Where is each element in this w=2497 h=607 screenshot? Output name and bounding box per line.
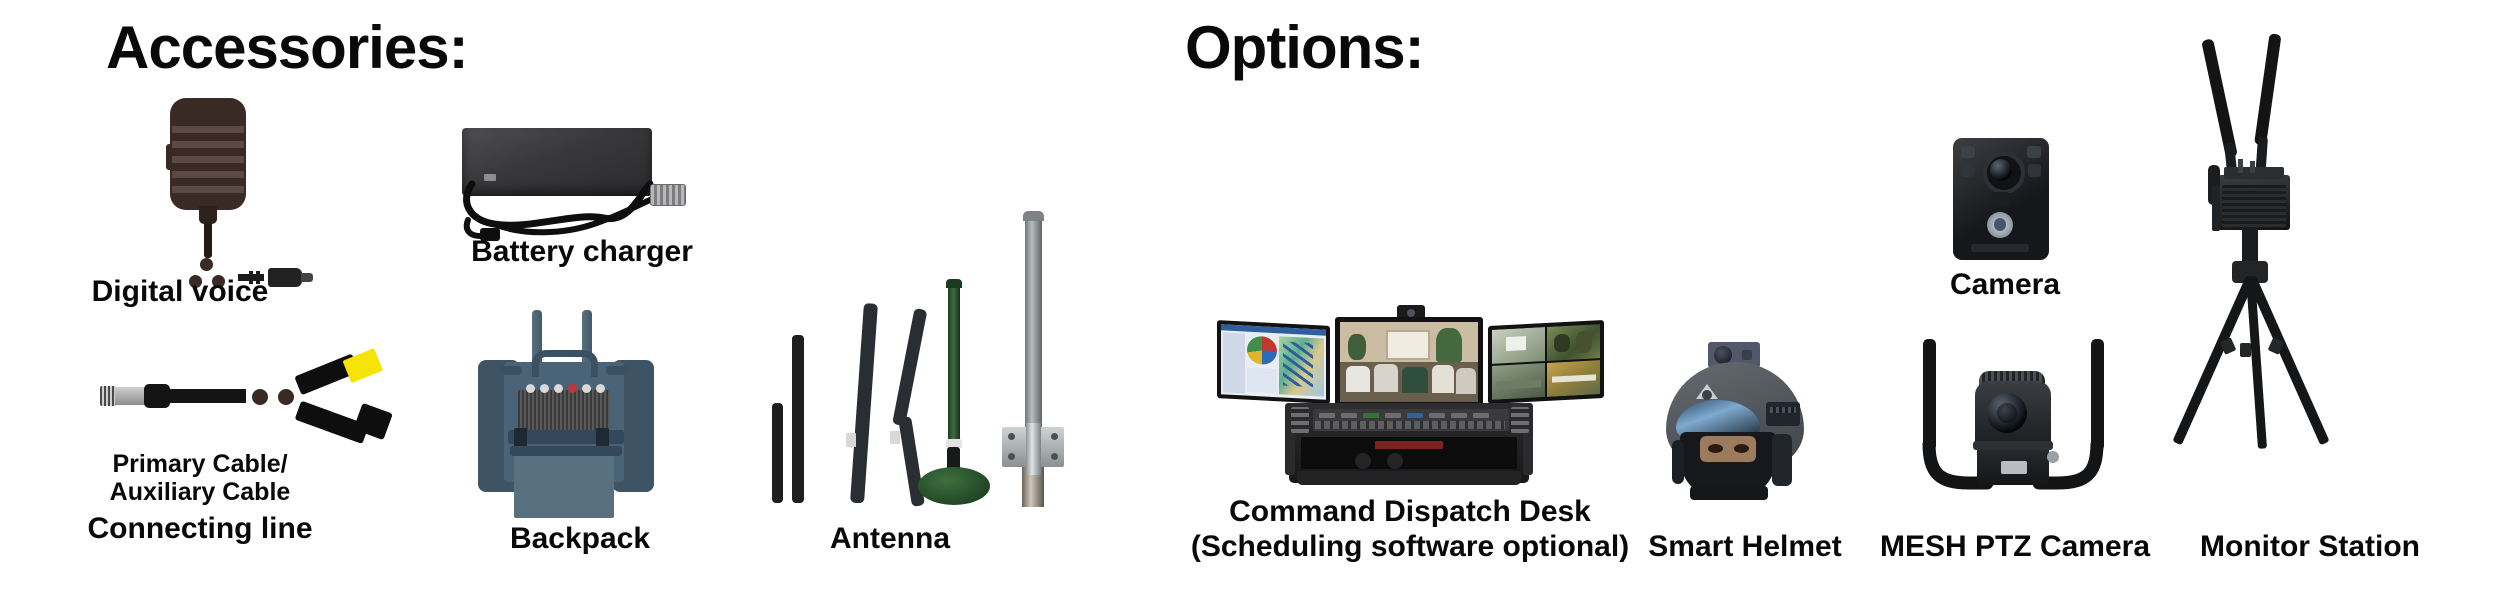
tactical-radio-backpack-icon — [470, 310, 690, 520]
fiberglass-mast-antenna-with-bracket — [1025, 215, 1042, 447]
medium-whip-antenna — [792, 335, 804, 503]
short-whip-antenna — [772, 403, 783, 503]
accessories-heading: Accessories: — [106, 18, 468, 78]
camera-label: Camera — [1910, 268, 2100, 302]
body-worn-camera-icon — [1953, 138, 2053, 263]
tripod-radio-station-icon — [2180, 25, 2420, 495]
connecting-line-sublabel-line1: Primary Cable/ — [50, 450, 350, 478]
monitor-station-label: Monitor Station — [2170, 530, 2450, 564]
backpack-label: Backpack — [450, 522, 710, 556]
digital-voice-label: Digital voice — [60, 275, 300, 309]
command-dispatch-desk-label-line2: (Scheduling software optional) — [1160, 530, 1660, 564]
quad-split-surveillance-screen — [1488, 320, 1604, 404]
smart-helmet-label: Smart Helmet — [1630, 530, 1860, 564]
y-splitter-cable-icon — [100, 370, 380, 450]
ptz-camera-icon — [1905, 335, 2125, 500]
long-flexible-antenna-bent — [892, 308, 927, 426]
command-dispatch-desk-label-line1: Command Dispatch Desk — [1180, 495, 1640, 529]
triple-screen-console-icon — [1205, 305, 1615, 485]
speaker-microphone-icon — [130, 98, 290, 258]
mesh-ptz-camera-label: MESH PTZ Camera — [1870, 530, 2160, 564]
magnetic-mount-green-antenna — [948, 283, 960, 443]
long-flexible-antenna-straight — [850, 303, 878, 503]
connecting-line-label: Connecting line — [50, 512, 350, 546]
battery-charger-label: Battery charger — [392, 235, 772, 269]
connecting-line-sublabel-line2: Auxiliary Cable — [50, 478, 350, 506]
antenna-label: Antenna — [760, 522, 1020, 556]
conference-room-video-screen — [1335, 317, 1483, 407]
options-heading: Options: — [1185, 18, 1424, 78]
product-accessories-board: Accessories: Options: Digital voice — [0, 0, 2497, 607]
tactical-helmet-icon — [1660, 340, 1820, 505]
power-brick-icon — [462, 128, 702, 238]
gis-map-dispatch-screen — [1217, 320, 1330, 404]
antenna-set-icon — [750, 195, 1070, 515]
